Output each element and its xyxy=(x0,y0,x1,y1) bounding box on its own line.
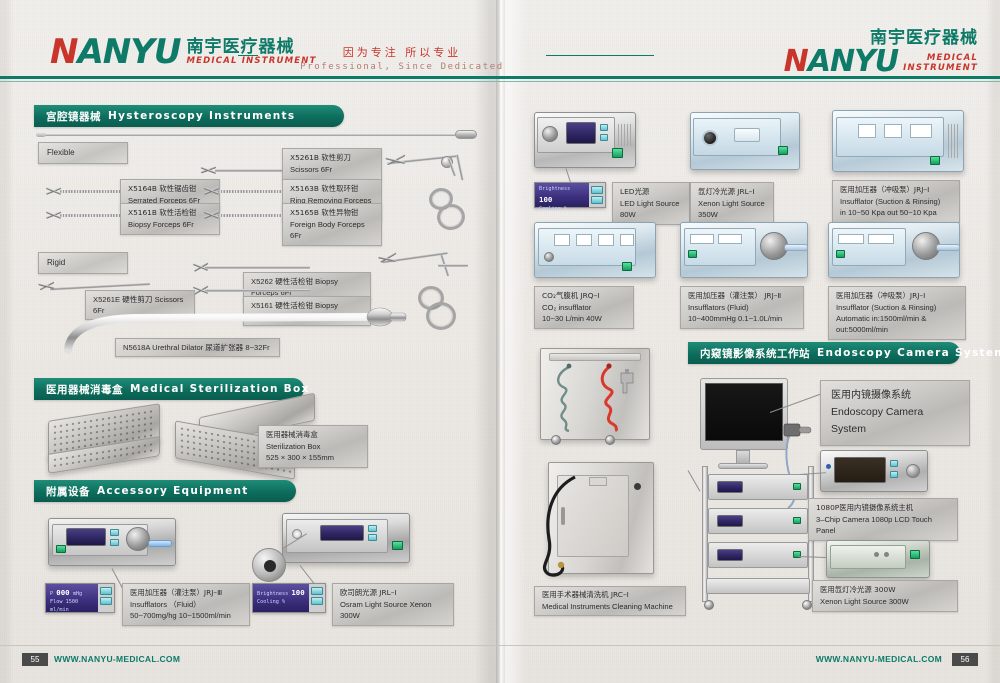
insufflator-tube-connector xyxy=(148,540,172,547)
trolley-device-1 xyxy=(708,474,808,500)
fluid-power-button[interactable] xyxy=(688,250,697,258)
section-title-cn: 宫腔镜器械 xyxy=(46,109,101,124)
item-spec: 50~700mg/hg 10~1500ml/min xyxy=(130,610,242,621)
header-rule-thick xyxy=(0,76,1000,79)
item-cn: 医用加压器（冲吸泵）JRJ–Ⅰ xyxy=(840,185,952,196)
item-cn: X5163B 软性取环钳 xyxy=(290,184,374,195)
lcd-value-1: 000 xyxy=(56,588,69,597)
lcd-key-down[interactable] xyxy=(591,196,603,204)
page-header: NANYU 南宇医疗器械 MEDICAL INSTRUMENT 因为专注 所以专… xyxy=(0,0,1000,82)
item-plate-xenon-300w: 医用氙灯冷光源 300W Xenon Light Source 300W xyxy=(812,580,958,612)
header-rule-thin xyxy=(0,81,1000,82)
rigid-biopsy-1-shaft xyxy=(205,266,310,269)
item-en: Xenon Light Source 300W xyxy=(820,596,950,607)
brand-wordmark-right: NANYU xyxy=(784,47,899,77)
zoom-panel-led: Brightness 100 Cooling % xyxy=(534,182,606,208)
xenon-output-port xyxy=(702,130,718,146)
cabinet-knob[interactable] xyxy=(634,483,641,490)
rscissors-arm-b xyxy=(438,264,468,267)
item-cn: 医用加压器（灌注泵） JRJ–Ⅱ xyxy=(688,291,796,302)
item-cn: 医用加压器（灌注泵）JRJ–Ⅲ xyxy=(130,588,242,599)
camera-system-monitor xyxy=(700,378,788,450)
footer-url-left[interactable]: WWW.NANYU-MEDICAL.COM xyxy=(54,653,180,666)
item-cn: 欧司朗光源 JRL–Ⅰ xyxy=(340,588,446,599)
light-source-screen xyxy=(320,525,364,541)
lcd-unit-1: % xyxy=(564,206,567,212)
item-plate-sterilization: 医用器械消毒盒 Sterilization Box 525 × 300 × 15… xyxy=(258,425,368,468)
item-spec: 300W xyxy=(340,610,446,621)
item-cn: X5161B 软性活检钳 xyxy=(128,208,212,219)
item-cn: LED光源 xyxy=(620,187,682,198)
xenon-display-panel xyxy=(734,128,760,142)
item-plate-n5618a: N5618A Urethral Dilator 尿道扩张器 8~32Fr xyxy=(115,338,280,357)
item-cn: 医用加压器（冲吸泵）JRJ–Ⅰ xyxy=(836,291,958,302)
device-led-light-source xyxy=(534,112,636,168)
item-en: Foreign Body Forceps 6Fr xyxy=(290,219,374,241)
lcd-unit-2: ml/min xyxy=(50,607,69,613)
zoom-panel-light-source: Brightness 100 Cooling % xyxy=(252,583,326,613)
item-en: Scissors 6Fr xyxy=(290,164,374,175)
flexible-scope-tip xyxy=(36,132,46,137)
lcd-label-1: P xyxy=(50,591,53,597)
item-en: Sterilization Box xyxy=(266,441,360,452)
page-number-left: 55 xyxy=(22,653,48,666)
suction-power-button[interactable] xyxy=(930,156,940,165)
insufflator-pump-knob[interactable] xyxy=(126,527,150,551)
trolley-wheel-right xyxy=(802,600,812,610)
item-size: 525 × 300 × 155mm xyxy=(266,452,360,463)
slogan-rule-right xyxy=(546,55,654,56)
cart-top-panel xyxy=(549,353,641,361)
trolley-device-2 xyxy=(708,508,808,534)
cleaning-machine-cabinet xyxy=(548,462,654,574)
lcd-unit-1: % xyxy=(282,599,285,605)
xenon-power-button[interactable] xyxy=(778,146,788,155)
lcd-label-1: Brightness xyxy=(257,591,288,597)
lcd-key-up[interactable] xyxy=(591,186,603,194)
lcd-value-1: 100 xyxy=(539,195,552,204)
device-insufflator-suction-auto xyxy=(828,222,960,278)
insufflator-screen xyxy=(66,528,106,546)
item-plate-cleaning-machine: 医用手术器械清洗机 JRC–Ⅰ Medical Instruments Clea… xyxy=(534,586,686,616)
xenon300-power-button[interactable] xyxy=(910,550,920,559)
lcd-key-down[interactable] xyxy=(311,597,323,605)
item-plate-x5161b: X5161B 软性活检钳 Biopsy Forceps 6Fr xyxy=(120,203,220,235)
item-cn: CO₂气腹机 JRQ–Ⅰ xyxy=(542,291,626,302)
item-spec: Automatic in:1500ml/min & out:5000ml/min xyxy=(836,313,958,335)
monitor-stand-neck xyxy=(736,450,750,464)
device-osram-light-source xyxy=(282,513,410,563)
camera-host-touch-panel[interactable] xyxy=(834,457,886,483)
trolley-device-3 xyxy=(708,542,808,568)
item-cn: 1080P医用内镜摄像系统主机 xyxy=(816,503,950,514)
item-spec: in 10~50 Kpa out 50~10 Kpa xyxy=(840,207,952,218)
item-cn: 氙灯冷光源 JRL–Ⅰ xyxy=(698,187,766,198)
item-spec: 350W xyxy=(698,209,766,220)
led-screen xyxy=(566,122,596,144)
led-power-button[interactable] xyxy=(612,148,623,158)
slogan: 因为专注 所以专业 Professional, Since Dedicated xyxy=(262,44,542,72)
brand-subtitle-line1: MEDICAL xyxy=(903,53,978,64)
slogan-cn: 因为专注 所以专业 xyxy=(262,44,542,60)
insufflator-power-button[interactable] xyxy=(56,545,66,553)
section-title-en: Endoscopy Camera System xyxy=(817,347,1000,359)
device-camera-host-1080p xyxy=(820,450,928,492)
item-plate-x5165b: X5165B 软性异物钳 Foreign Body Forceps 6Fr xyxy=(282,203,382,246)
item-plate-osram: 欧司朗光源 JRL–Ⅰ Osram Light Source Xenon 300… xyxy=(332,583,454,626)
camera-host-indicator xyxy=(826,464,831,469)
section-title-en: Hysteroscopy Instruments xyxy=(108,110,295,122)
device-xenon-light-source xyxy=(690,112,800,170)
suction-auto-tube-connector xyxy=(936,244,960,251)
item-plate-insufflator-fluid-right: 医用加压器（灌注泵） JRJ–Ⅱ Insufflators (Fluid) 10… xyxy=(680,286,804,329)
item-plate-x5261b: X5261B 软性剪刀 Scissors 6Fr xyxy=(282,148,382,180)
co2-gas-port xyxy=(544,252,554,262)
item-plate-led: LED光源 LED Light Source 80W xyxy=(612,182,690,225)
section-title-cn: 内窥镜影像系统工作站 xyxy=(700,346,810,361)
lcd-value-2: 1500 xyxy=(66,599,79,605)
camera-host-connector xyxy=(906,464,920,478)
section-header-hysteroscopy: 宫腔镜器械 Hysteroscopy Instruments xyxy=(34,105,344,127)
footer-rule xyxy=(0,645,1000,646)
item-spec: 80W xyxy=(620,209,682,220)
item-cn: X5165B 软性异物钳 xyxy=(290,208,374,219)
spray-gun-icon xyxy=(615,369,641,403)
section-header-camera-system: 内窥镜影像系统工作站 Endoscopy Camera System xyxy=(688,342,960,364)
lcd-key-up[interactable] xyxy=(311,587,323,595)
item-cn: 医用氙灯冷光源 300W xyxy=(820,585,950,596)
device-insufflator-fluid xyxy=(48,518,176,566)
item-en: Insufflator (Suction & Rinsing) xyxy=(836,302,958,313)
cart-wheel-left xyxy=(551,435,561,445)
item-en: LED Light Source xyxy=(620,198,682,209)
section-title-cn: 医用器械消毒盒 xyxy=(46,382,123,397)
item-en: Biopsy Forceps 6Fr xyxy=(128,219,212,230)
cart-wheel-right xyxy=(605,435,615,445)
cabinet-label xyxy=(589,477,607,486)
item-spec: 10~400mmHg 0.1~1.0L/min xyxy=(688,313,796,324)
item-plate-camera-system-title: 医用内镜摄像系统 Endoscopy Camera System xyxy=(820,380,970,446)
section-header-accessory: 附属设备 Accessory Equipment xyxy=(34,480,296,502)
equipment-trolley xyxy=(700,466,816,616)
item-plate-insufflator-fluid: 医用加压器（灌注泵）JRJ–Ⅲ Insufflators （Fluid） 50~… xyxy=(122,583,250,626)
lcd-label-2: Cooling xyxy=(257,599,279,605)
section-header-sterilization: 医用器械消毒盒 Medical Sterilization Box xyxy=(34,378,304,400)
item-plate-xenon: 氙灯冷光源 JRL–Ⅰ Xenon Light Source 350W xyxy=(690,182,774,225)
catalog-page: NANYU 南宇医疗器械 MEDICAL INSTRUMENT 因为专注 所以专… xyxy=(0,0,1000,683)
fluid-tube-connector xyxy=(784,244,808,251)
item-en: Endoscopy Camera System xyxy=(831,404,959,438)
device-insufflator-fluid-right xyxy=(680,222,808,278)
trolley-base-shelf xyxy=(706,578,810,594)
slogan-rule-left xyxy=(238,55,258,56)
lcd-value-1: 100 xyxy=(291,588,304,597)
lcd-key-up[interactable] xyxy=(100,587,112,595)
co2-power-button[interactable] xyxy=(622,262,632,271)
lcd-label-2: Cooling xyxy=(539,206,561,212)
cleaning-machine-cart xyxy=(540,348,650,440)
item-cn: 医用器械消毒盒 xyxy=(266,430,360,441)
slogan-en: Professional, Since Dedicated xyxy=(262,62,542,72)
section-title-cn: 附属设备 xyxy=(46,484,90,499)
lcd-label-1: Brightness xyxy=(539,186,570,192)
group-tag-rigid: Rigid xyxy=(38,252,128,274)
led-brightness-knob[interactable] xyxy=(542,126,558,142)
item-en: Osram Light Source Xenon xyxy=(340,599,446,610)
logo-right: 南宇医疗器械 NANYU MEDICAL INSTRUMENT xyxy=(784,30,978,77)
device-xenon-300w xyxy=(826,540,930,578)
section-title-en: Accessory Equipment xyxy=(97,485,249,497)
item-en: Xenon Light Source xyxy=(698,198,766,209)
device-co2-insufflator xyxy=(534,222,656,278)
item-en: Medical Instruments Cleaning Machine xyxy=(542,601,678,612)
item-en: Insufflators (Fluid) xyxy=(688,302,796,313)
light-source-power-button[interactable] xyxy=(392,541,403,550)
item-en: 3–Chip Camera 1080p LCD Touch Panel xyxy=(816,514,950,536)
item-spec: 10~30 L/min 40W xyxy=(542,313,626,324)
item-cn: 医用手术器械清洗机 JRC–Ⅰ xyxy=(542,590,678,601)
rscissors-ring-b xyxy=(426,302,456,330)
brand-subtitle-line2: INSTRUMENT xyxy=(903,63,978,74)
book-spine xyxy=(496,0,505,683)
item-plate-co2: CO₂气腹机 JRQ–Ⅰ CO₂ insufflator 10~30 L/min… xyxy=(534,286,634,329)
item-en: Insufflators （Fluid） xyxy=(130,599,242,610)
cabinet-hose xyxy=(531,473,591,583)
brand-wordmark: NANYU xyxy=(50,35,180,69)
section-title-en: Medical Sterilization Box xyxy=(130,383,310,395)
item-en: Insufflator (Suction & Rinsing) xyxy=(840,196,952,207)
flexible-scope-shaft xyxy=(40,134,460,136)
group-tag-flexible: Flexible xyxy=(38,142,128,164)
zoom-panel-insufflator: P 000 mHg Flow 1500 ml/min xyxy=(45,583,115,613)
hose-gray xyxy=(549,363,593,433)
lcd-unit-1: mHg xyxy=(73,591,82,597)
suction-auto-power-button[interactable] xyxy=(836,250,845,258)
item-plate-insufflator-suction-top: 医用加压器（冲吸泵）JRJ–Ⅰ Insufflator (Suction & R… xyxy=(832,180,960,223)
device-insufflator-suction-top xyxy=(832,110,964,172)
rigid-biopsy-2-shaft xyxy=(205,289,310,292)
lcd-label-2: Flow xyxy=(50,599,63,605)
trolley-wheel-left xyxy=(704,600,714,610)
lcd-key-down[interactable] xyxy=(100,597,112,605)
item-cn: X5164B 软性锯齿钳 xyxy=(128,184,212,195)
light-guide-coupler xyxy=(252,548,286,582)
flexible-scope-handle xyxy=(455,130,477,139)
page-number-right: 56 xyxy=(952,653,978,666)
grasper-arm-b xyxy=(456,154,464,180)
item-plate-camera-host: 1080P医用内镜摄像系统主机 3–Chip Camera 1080p LCD … xyxy=(808,498,958,541)
item-en: CO₂ insufflator xyxy=(542,302,626,313)
footer-url-right[interactable]: WWW.NANYU-MEDICAL.COM xyxy=(816,653,942,666)
page-footer: 55 WWW.NANYU-MEDICAL.COM WWW.NANYU-MEDIC… xyxy=(0,641,1000,683)
item-cn: X5261B 软性剪刀 xyxy=(290,153,374,164)
item-plate-insufflator-suction-auto: 医用加压器（冲吸泵）JRJ–Ⅰ Insufflator (Suction & R… xyxy=(828,286,966,340)
item-cn: 医用内镜摄像系统 xyxy=(831,388,959,404)
